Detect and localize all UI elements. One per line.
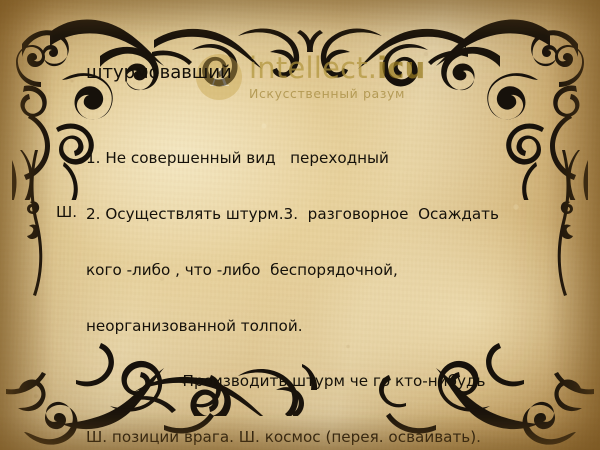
watermark-text: intellect.icu Искусственный разум [249,54,426,101]
watermark-title: intellect.icu [249,54,426,83]
dictionary-body-text: 1. Не совершенный вид переходный 2. Осущ… [86,112,530,450]
body-line: 1. Не совершенный вид переходный [86,149,530,168]
side-rule-right-icon [544,150,578,320]
watermark-subtitle: Искусственный разум [249,88,426,101]
body-line: Ш. позиции врага. Ш. космос (перея. осва… [86,428,530,447]
watermark-title-bold: icu [377,51,425,85]
body-line: кого -либо , что -либо беспорядочной, [86,261,530,280]
presentation-slide: A intellect.icu Искусственный разум штур… [0,0,600,450]
body-line: Производить штурм че го кто-нибудь [86,372,530,391]
flourish-top-center-right-icon [300,22,470,102]
page-title: штурмовавший [86,64,232,82]
body-line: 2. Осуществлять штурм.3. разговорное Оса… [86,205,530,224]
side-rule-left-icon [22,150,56,320]
body-line: неорганизованной толпой. [86,317,530,336]
side-marker: Ш. [56,203,77,222]
watermark-title-light: intellect. [249,51,377,85]
